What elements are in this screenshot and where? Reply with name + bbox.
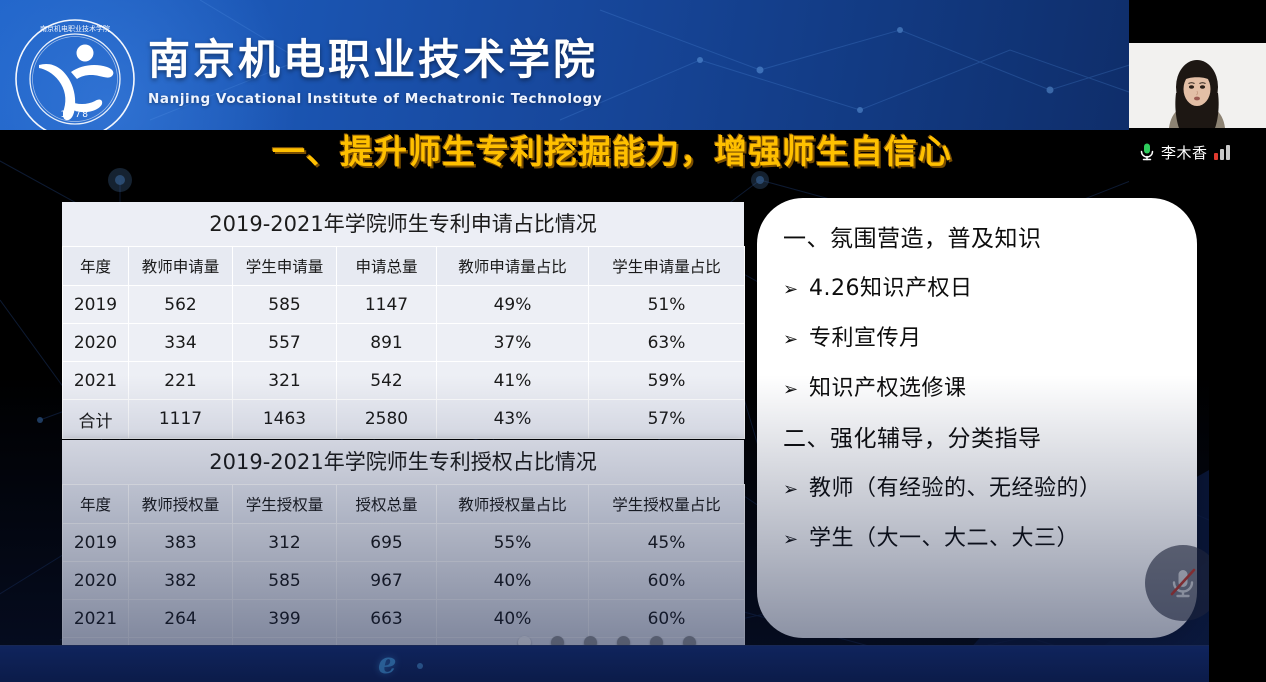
cell: 312 (233, 524, 337, 562)
cell: 60% (589, 600, 745, 638)
list-item: 一、氛围营造，普及知识 (783, 224, 1183, 255)
table-header-row: 年度 教师授权量 学生授权量 授权总量 教师授权量占比 学生授权量占比 (63, 485, 745, 524)
column-header: 学生申请量 (233, 247, 337, 286)
cell: 63% (589, 324, 745, 362)
presentation-slide: 1978 南京机电职业技术学院 Nanjing Vocational Insti… (0, 0, 1209, 682)
table-header-row: 年度 教师申请量 学生申请量 申请总量 教师申请量占比 学生申请量占比 (63, 247, 745, 286)
cell: 合计 (63, 400, 129, 439)
cell: 334 (129, 324, 233, 362)
cell: 383 (129, 524, 233, 562)
list-item-label: 二、强化辅导，分类指导 (783, 424, 1183, 455)
cell: 41% (437, 362, 589, 400)
cell: 1117 (129, 400, 233, 439)
content-panel: 一、氛围营造，普及知识 ➢ 4.26知识产权日 ➢ 专利宣传月 ➢ 知识产权选修… (757, 198, 1197, 638)
slide-title: 一、提升师生专利挖掘能力，增强师生自信心 (272, 131, 952, 173)
table-row: 2019 383 312 695 55% 45% (63, 524, 745, 562)
microphone-icon (1139, 142, 1155, 162)
cell: 40% (437, 562, 589, 600)
slide-header-band: 1978 南京机电职业技术学院 Nanjing Vocational Insti… (0, 0, 1209, 130)
column-header: 学生授权量 (233, 485, 337, 524)
list-item: ➢ 教师（有经验的、无经验的） (783, 474, 1183, 505)
logo-year-text: 1978 (61, 110, 90, 120)
ie-glyph: e (378, 647, 414, 679)
cell: 2019 (63, 286, 129, 324)
taskbar: e (0, 645, 1209, 682)
list-item: ➢ 4.26知识产权日 (783, 274, 1183, 305)
taskbar-indicator-dot (417, 663, 423, 669)
cell: 43% (437, 400, 589, 439)
cell: 57% (589, 400, 745, 439)
column-header: 年度 (63, 247, 129, 286)
list-item: ➢ 学生（大一、大二、大三） (783, 524, 1183, 555)
cell: 891 (337, 324, 437, 362)
college-emblem-logo: 1978 南京机电职业技术学院 Nanjing Vocational Insti… (13, 17, 137, 130)
participant-webcam-image (1129, 43, 1266, 128)
list-item: ➢ 知识产权选修课 (783, 374, 1183, 405)
cell: 40% (437, 600, 589, 638)
cell: 967 (337, 562, 437, 600)
cell: 59% (589, 362, 745, 400)
column-header: 教师授权量 (129, 485, 233, 524)
list-item-label: 4.26知识产权日 (809, 274, 1183, 304)
arrow-bullet-icon: ➢ (783, 525, 809, 555)
cell: 2021 (63, 600, 129, 638)
cell: 2021 (63, 362, 129, 400)
cell: 542 (337, 362, 437, 400)
cell: 399 (233, 600, 337, 638)
column-header: 教师授权量占比 (437, 485, 589, 524)
arrow-bullet-icon: ➢ (783, 325, 809, 355)
cell: 49% (437, 286, 589, 324)
table-title: 2019-2021年学院师生专利申请占比情况 (62, 202, 744, 246)
cell: 382 (129, 562, 233, 600)
cell: 264 (129, 600, 233, 638)
cell: 2020 (63, 562, 129, 600)
participant-meta-bar: 李木香 (1129, 133, 1266, 171)
cell: 37% (437, 324, 589, 362)
list-item-label: 一、氛围营造，普及知识 (783, 224, 1183, 255)
list-item-label: 知识产权选修课 (809, 374, 1183, 404)
column-header: 年度 (63, 485, 129, 524)
list-item: ➢ 专利宣传月 (783, 324, 1183, 355)
column-header: 学生申请量占比 (589, 247, 745, 286)
cell: 45% (589, 524, 745, 562)
cell: 585 (233, 562, 337, 600)
cell: 585 (233, 286, 337, 324)
cell: 1463 (233, 400, 337, 439)
column-header: 教师申请量 (129, 247, 233, 286)
list-item: 二、强化辅导，分类指导 (783, 424, 1183, 455)
patent-application-table: 2019-2021年学院师生专利申请占比情况 年度 教师申请量 学生申请量 申请… (62, 202, 744, 439)
cell: 60% (589, 562, 745, 600)
table-total-row: 合计 1117 1463 2580 43% 57% (63, 400, 745, 439)
cell: 557 (233, 324, 337, 362)
table-row: 2021 221 321 542 41% 59% (63, 362, 745, 400)
cell: 1147 (337, 286, 437, 324)
institution-name-en: Nanjing Vocational Institute of Mechatro… (148, 90, 602, 108)
institution-name-cn: 南京机电职业技术学院 (148, 36, 602, 84)
table-grid: 年度 教师申请量 学生申请量 申请总量 教师申请量占比 学生申请量占比 2019… (62, 246, 745, 439)
column-header: 学生授权量占比 (589, 485, 745, 524)
list-item-label: 教师（有经验的、无经验的） (809, 474, 1183, 504)
arrow-bullet-icon: ➢ (783, 475, 809, 505)
bullet-list: 一、氛围营造，普及知识 ➢ 4.26知识产权日 ➢ 专利宣传月 ➢ 知识产权选修… (783, 224, 1183, 574)
column-header: 教师申请量占比 (437, 247, 589, 286)
cell: 2020 (63, 324, 129, 362)
cell: 663 (337, 600, 437, 638)
participant-video-thumbnail[interactable] (1129, 43, 1266, 128)
table-title: 2019-2021年学院师生专利授权占比情况 (62, 440, 744, 484)
table-row: 2020 334 557 891 37% 63% (63, 324, 745, 362)
svg-text:南京机电职业技术学院: 南京机电职业技术学院 (40, 24, 110, 33)
cell: 55% (437, 524, 589, 562)
column-header: 授权总量 (337, 485, 437, 524)
participant-name: 李木香 (1161, 142, 1208, 163)
table-row: 2019 562 585 1147 49% 51% (63, 286, 745, 324)
arrow-bullet-icon: ➢ (783, 375, 809, 405)
cell: 695 (337, 524, 437, 562)
microphone-muted-icon (1163, 563, 1203, 603)
list-item-label: 学生（大一、大二、大三） (809, 524, 1183, 554)
cell: 2019 (63, 524, 129, 562)
screen: 1978 南京机电职业技术学院 Nanjing Vocational Insti… (0, 0, 1266, 682)
cell: 221 (129, 362, 233, 400)
column-header: 申请总量 (337, 247, 437, 286)
cell: 321 (233, 362, 337, 400)
cell: 2580 (337, 400, 437, 439)
cell: 51% (589, 286, 745, 324)
internet-explorer-icon[interactable]: e (378, 647, 414, 679)
list-item-label: 专利宣传月 (809, 324, 1183, 354)
table-row: 2020 382 585 967 40% 60% (63, 562, 745, 600)
signal-bars-icon (1214, 145, 1230, 160)
brand-block: 南京机电职业技术学院 Nanjing Vocational Institute … (148, 36, 602, 108)
table-row: 2021 264 399 663 40% 60% (63, 600, 745, 638)
arrow-bullet-icon: ➢ (783, 275, 809, 305)
cell: 562 (129, 286, 233, 324)
